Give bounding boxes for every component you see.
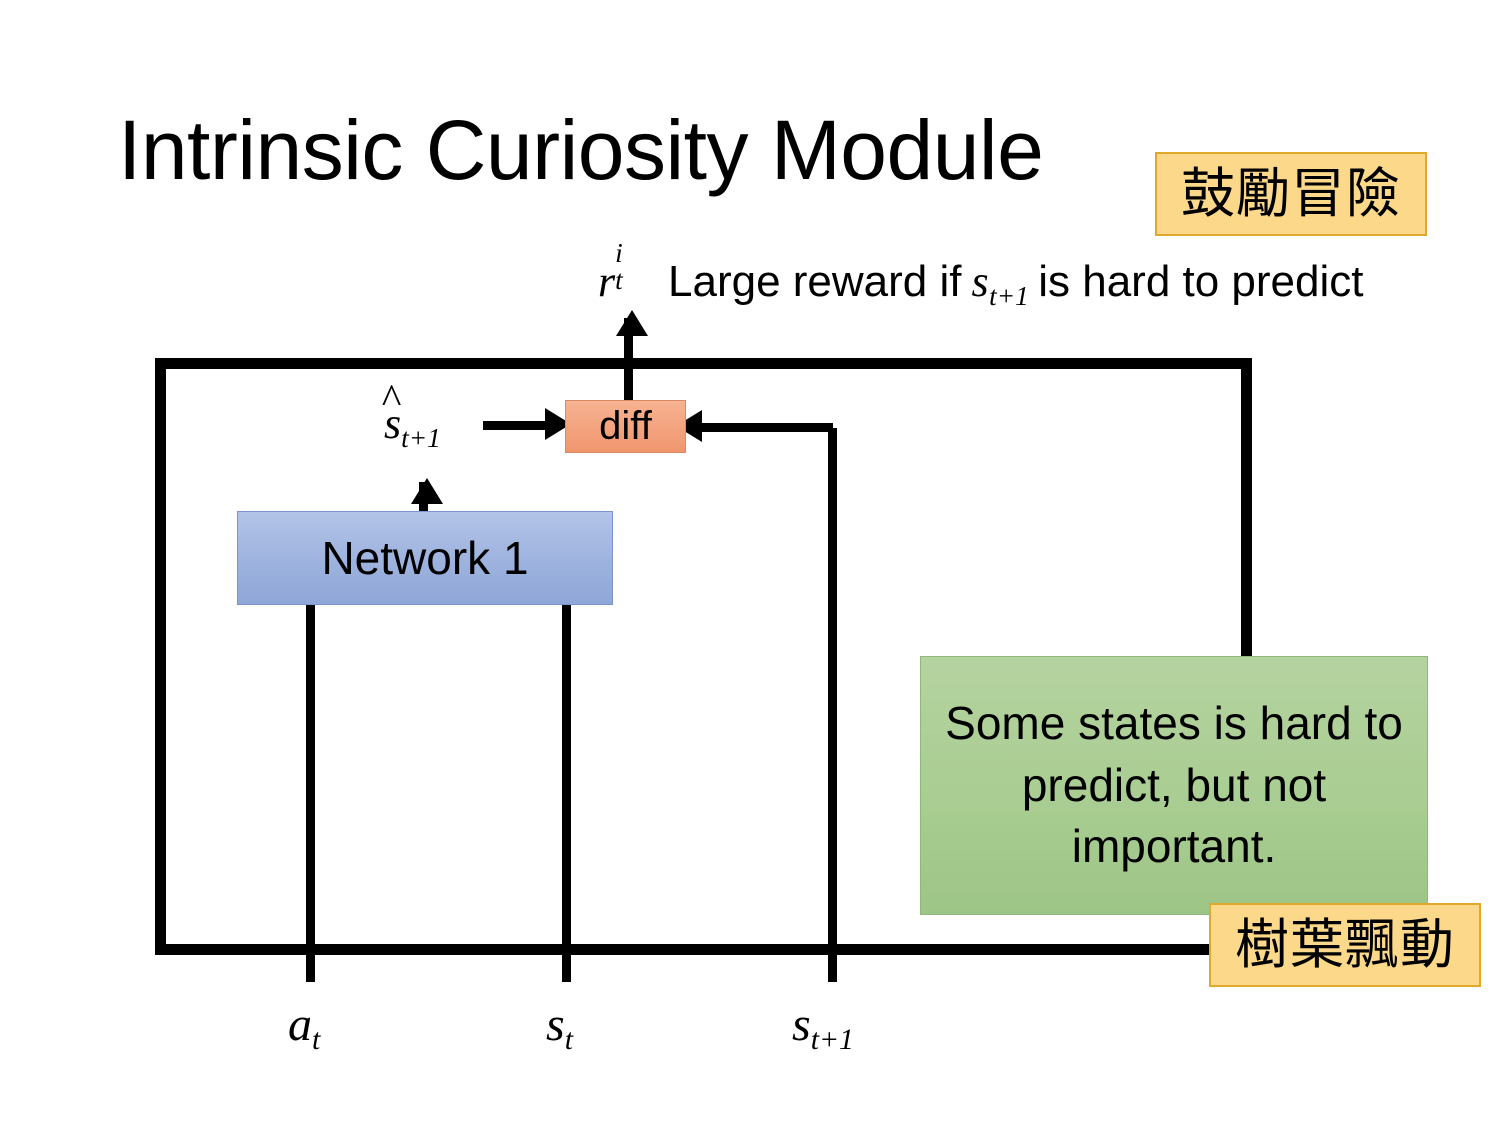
action-label: at — [288, 997, 320, 1052]
reward-symbol: rit — [598, 252, 638, 307]
frame-right-edge — [1241, 358, 1252, 658]
next-state-label: st+1 — [792, 997, 854, 1052]
network-1-box[interactable]: Network 1 — [237, 511, 613, 605]
network-output-arrowhead — [411, 478, 443, 504]
page-title: Intrinsic Curiosity Module — [118, 108, 1043, 192]
state-input-line — [562, 600, 571, 982]
diff-box[interactable]: diff — [565, 400, 686, 453]
note-green-box: Some states is hard to predict, but not … — [920, 656, 1428, 915]
reward-caption: rit Large reward if st+1 is hard to pred… — [598, 252, 1364, 312]
badge-leaves-fluttering: 樹葉飄動 — [1209, 903, 1481, 987]
reward-next-state-base: s — [971, 257, 988, 306]
note-green-text: Some states is hard to predict, but not … — [943, 693, 1405, 878]
diff-label: diff — [599, 404, 652, 449]
predicted-next-state-base: ^s — [384, 398, 401, 449]
predicted-next-state-label: ^st+1 — [384, 398, 441, 449]
next-state-label-subscript: t+1 — [811, 1023, 854, 1057]
action-input-line — [306, 600, 315, 982]
action-label-subscript: t — [312, 1023, 320, 1057]
reward-symbol-base: r — [598, 257, 615, 306]
frame-top-edge — [155, 358, 1252, 369]
next-state-input-line — [828, 428, 837, 982]
state-label: st — [546, 997, 573, 1052]
diff-to-reward-arrowhead — [616, 310, 648, 336]
reward-text-before: Large reward if — [668, 257, 961, 307]
badge-encourage-adventure: 鼓勵冒險 — [1155, 152, 1427, 236]
state-label-subscript: t — [565, 1023, 573, 1057]
reward-next-state-subscript: t+1 — [989, 281, 1029, 311]
reward-text-after: is hard to predict — [1038, 257, 1363, 307]
hat-accent-icon: ^ — [382, 376, 402, 424]
predicted-next-state-subscript: t+1 — [401, 423, 441, 454]
reward-next-state-symbol: st+1 — [971, 256, 1028, 307]
frame-left-edge — [155, 358, 166, 955]
network-1-label: Network 1 — [321, 531, 528, 585]
slide-canvas: Intrinsic Curiosity Module 鼓勵冒險 rit Larg… — [0, 0, 1500, 1125]
next-state-elbow-line — [700, 423, 833, 432]
reward-symbol-subscript: t — [615, 265, 623, 296]
